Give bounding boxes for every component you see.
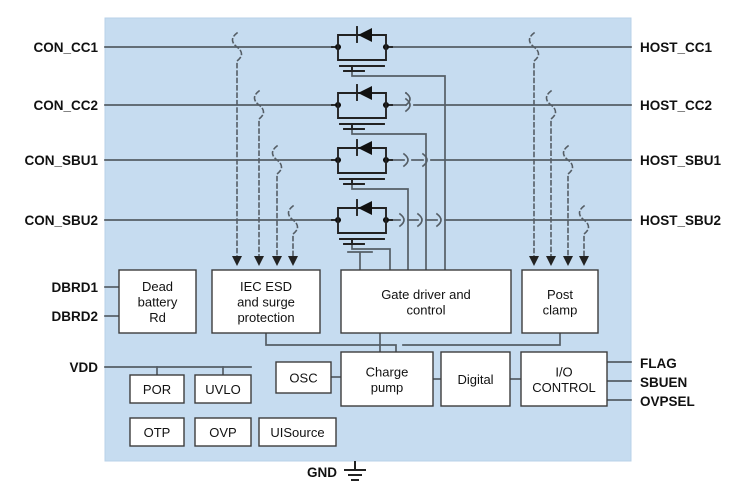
block-io-control[interactable]: I/OCONTROL <box>521 352 607 406</box>
pin-label-host-cc2: HOST_CC2 <box>640 98 712 113</box>
block-gate-driver-control[interactable]: Gate driver andcontrol <box>341 270 511 333</box>
block-label: and surge <box>237 295 295 310</box>
pin-label-con-sbu1: CON_SBU1 <box>24 153 98 168</box>
block-label: I/O <box>555 364 572 379</box>
block-uvlo[interactable]: UVLO <box>195 375 251 403</box>
pin-label-con-sbu2: CON_SBU2 <box>24 213 98 228</box>
block-label: OSC <box>289 371 317 386</box>
block-label: OVP <box>209 425 236 440</box>
block-post-clamp[interactable]: Postclamp <box>522 270 598 333</box>
block-label: pump <box>371 380 404 395</box>
block-label: UISource <box>270 425 324 440</box>
block-label: UVLO <box>205 382 240 397</box>
pin-label-ovpsel: OVPSEL <box>640 394 695 409</box>
block-label: OTP <box>144 425 171 440</box>
block-dead-battery-rd[interactable]: DeadbatteryRd <box>119 270 196 333</box>
block-label: Rd <box>149 310 166 325</box>
block-label: Gate driver and <box>381 287 471 302</box>
pin-label-host-sbu2: HOST_SBU2 <box>640 213 721 228</box>
pin-label-sbuen: SBUEN <box>640 375 687 390</box>
block-label: Dead <box>142 279 173 294</box>
pin-label-con-cc1: CON_CC1 <box>33 40 98 55</box>
block-iec-esd-protection[interactable]: IEC ESDand surgeprotection <box>212 270 320 333</box>
pin-label-gnd: GND <box>307 465 337 480</box>
block-label: Post <box>547 287 573 302</box>
block-uisource[interactable]: UISource <box>259 418 336 446</box>
pin-label-flag: FLAG <box>640 356 677 371</box>
block-label: Digital <box>457 372 493 387</box>
pin-label-con-cc2: CON_CC2 <box>33 98 98 113</box>
block-label: clamp <box>543 302 578 317</box>
block-diagram-canvas: DeadbatteryRdIEC ESDand surgeprotectionG… <box>0 0 750 502</box>
pin-label-dbrd1: DBRD1 <box>51 280 98 295</box>
block-digital[interactable]: Digital <box>441 352 510 406</box>
block-por[interactable]: POR <box>130 375 184 403</box>
block-osc[interactable]: OSC <box>276 362 331 393</box>
block-label: protection <box>237 310 294 325</box>
pin-label-vdd: VDD <box>69 360 98 375</box>
block-label: Charge <box>366 364 409 379</box>
pin-label-host-sbu1: HOST_SBU1 <box>640 153 722 168</box>
block-otp[interactable]: OTP <box>130 418 184 446</box>
pin-label-host-cc1: HOST_CC1 <box>640 40 713 55</box>
block-label: CONTROL <box>532 380 596 395</box>
block-label: POR <box>143 382 171 397</box>
block-charge-pump[interactable]: Chargepump <box>341 352 433 406</box>
block-label: IEC ESD <box>240 279 292 294</box>
block-label: battery <box>138 295 178 310</box>
block-label: control <box>406 302 445 317</box>
pin-label-dbrd2: DBRD2 <box>51 309 98 324</box>
block-ovp[interactable]: OVP <box>195 418 251 446</box>
system-block-diagram: DeadbatteryRdIEC ESDand surgeprotectionG… <box>0 0 750 502</box>
